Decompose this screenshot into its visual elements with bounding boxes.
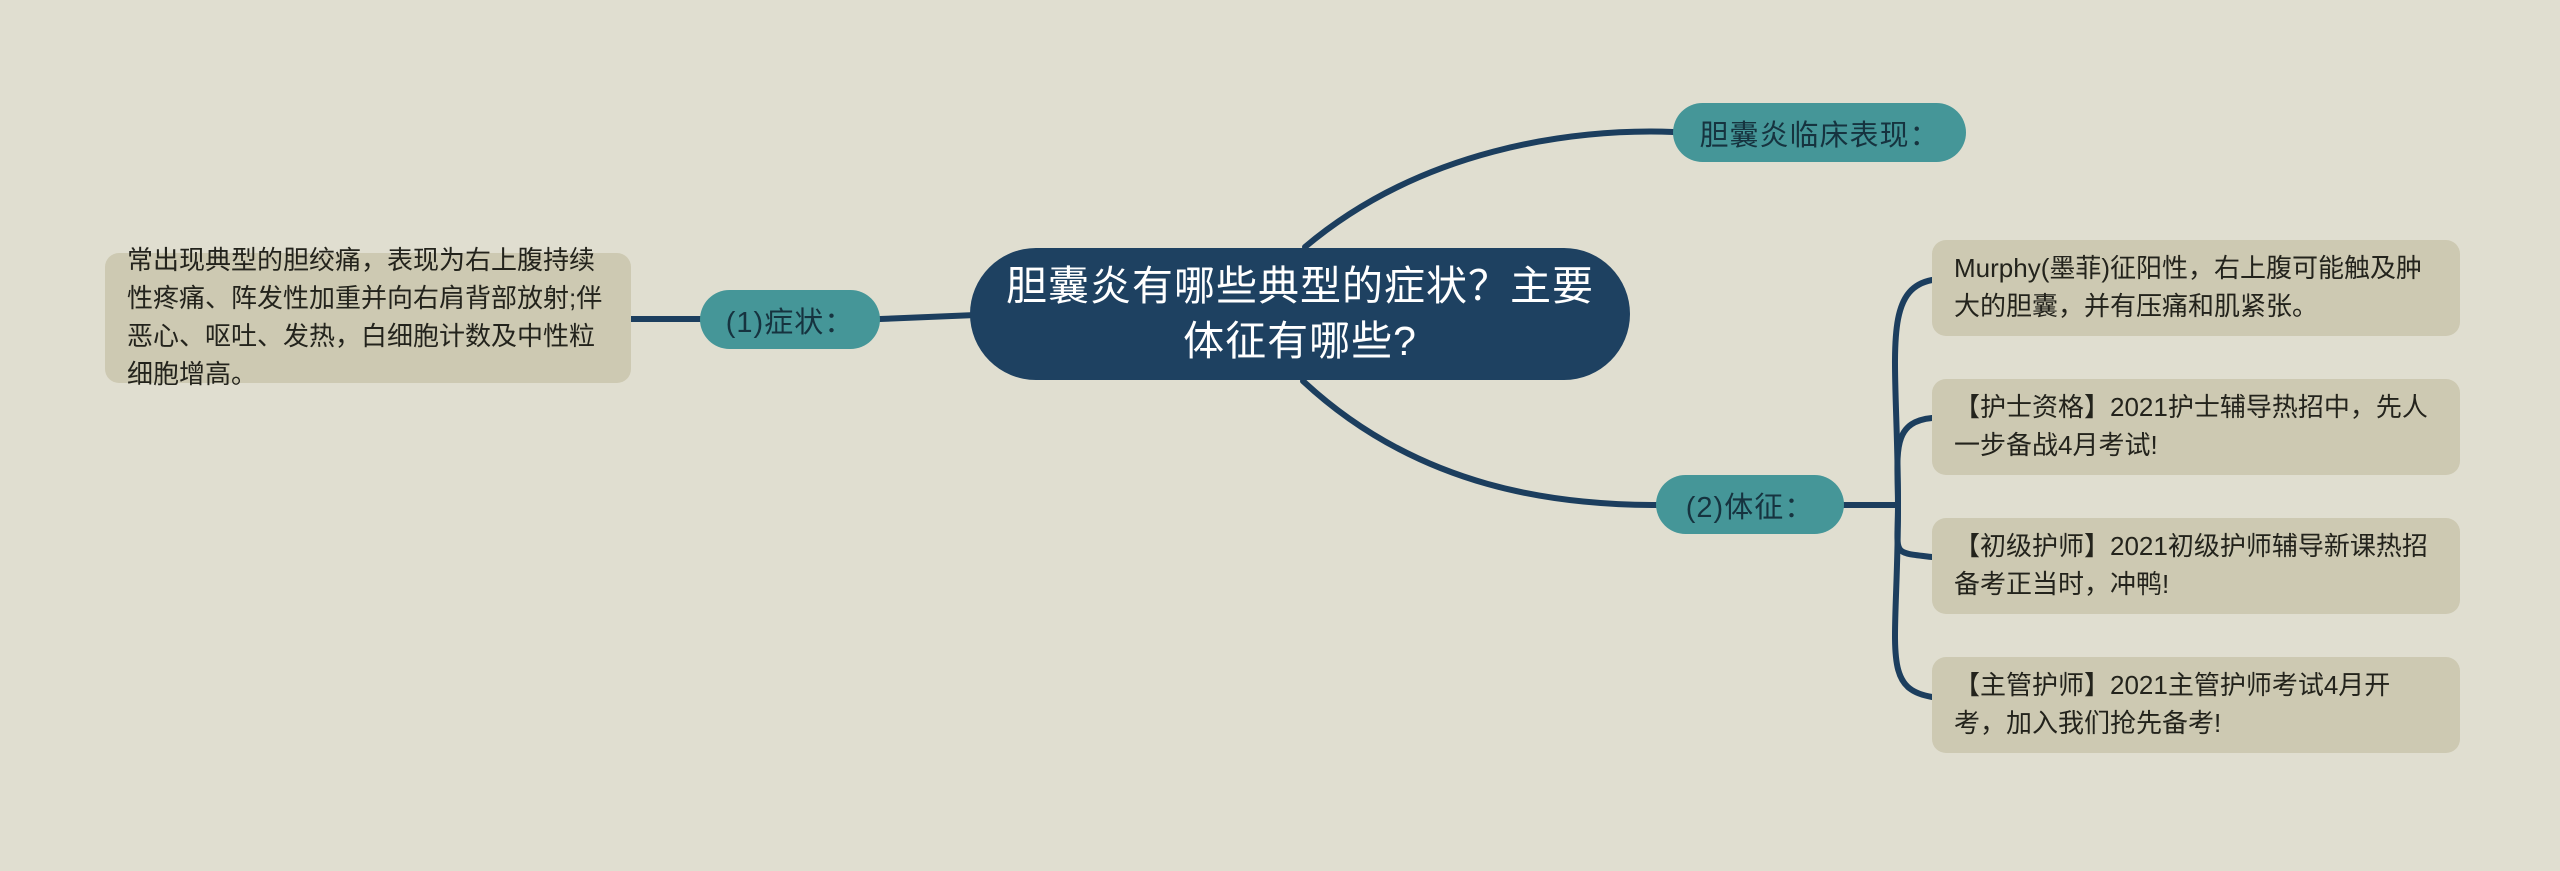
connector-bracket-box-2: [1897, 505, 1932, 557]
text-box-junior-nurse-ad-text: 【初级护师】2021初级护师辅导新课热招 备考正当时，冲鸭!: [1954, 528, 2438, 604]
connector-bracket-box-1: [1897, 418, 1932, 505]
connector-symptom-to-root: [880, 315, 976, 319]
root-node[interactable]: 胆囊炎有哪些典型的症状？主要体征有哪些?: [970, 248, 1630, 380]
text-box-symptom-detail-text: 常出现典型的胆绞痛，表现为右上腹持续性疼痛、阵发性加重并向右肩背部放射;伴恶心、…: [127, 242, 609, 394]
branch-node-symptom-label: (1)症状：: [726, 299, 854, 341]
connector-bracket-box-0: [1895, 280, 1932, 505]
branch-node-sign-label: (2)体征：: [1686, 484, 1814, 526]
text-box-symptom-detail: 常出现典型的胆绞痛，表现为右上腹持续性疼痛、阵发性加重并向右肩背部放射;伴恶心、…: [105, 253, 631, 383]
mindmap-canvas: 胆囊炎有哪些典型的症状？主要体征有哪些? (1)症状： 胆囊炎临床表现： (2)…: [0, 0, 2560, 871]
connector-root-to-sign: [1303, 381, 1656, 505]
branch-node-clinical[interactable]: 胆囊炎临床表现：: [1673, 103, 1966, 162]
text-box-nurse-qualification-ad-text: 【护士资格】2021护士辅导热招中，先人一步备战4月考试!: [1954, 389, 2438, 465]
branch-node-clinical-label: 胆囊炎临床表现：: [1699, 112, 1939, 154]
branch-node-symptom[interactable]: (1)症状：: [700, 290, 880, 349]
text-box-charge-nurse-ad[interactable]: 【主管护师】2021主管护师考试4月开考，加入我们抢先备考!: [1932, 657, 2460, 753]
root-node-label: 胆囊炎有哪些典型的症状？主要体征有哪些?: [1004, 259, 1596, 370]
connector-bracket-box-3: [1895, 505, 1932, 697]
connector-root-to-clinical: [1305, 132, 1673, 247]
branch-node-sign[interactable]: (2)体征：: [1656, 475, 1844, 534]
text-box-nurse-qualification-ad[interactable]: 【护士资格】2021护士辅导热招中，先人一步备战4月考试!: [1932, 379, 2460, 475]
text-box-charge-nurse-ad-text: 【主管护师】2021主管护师考试4月开考，加入我们抢先备考!: [1954, 667, 2438, 743]
text-box-murphy-sign: Murphy(墨菲)征阳性，右上腹可能触及肿大的胆囊，并有压痛和肌紧张。: [1932, 240, 2460, 336]
text-box-murphy-sign-text: Murphy(墨菲)征阳性，右上腹可能触及肿大的胆囊，并有压痛和肌紧张。: [1954, 250, 2438, 326]
text-box-junior-nurse-ad[interactable]: 【初级护师】2021初级护师辅导新课热招 备考正当时，冲鸭!: [1932, 518, 2460, 614]
